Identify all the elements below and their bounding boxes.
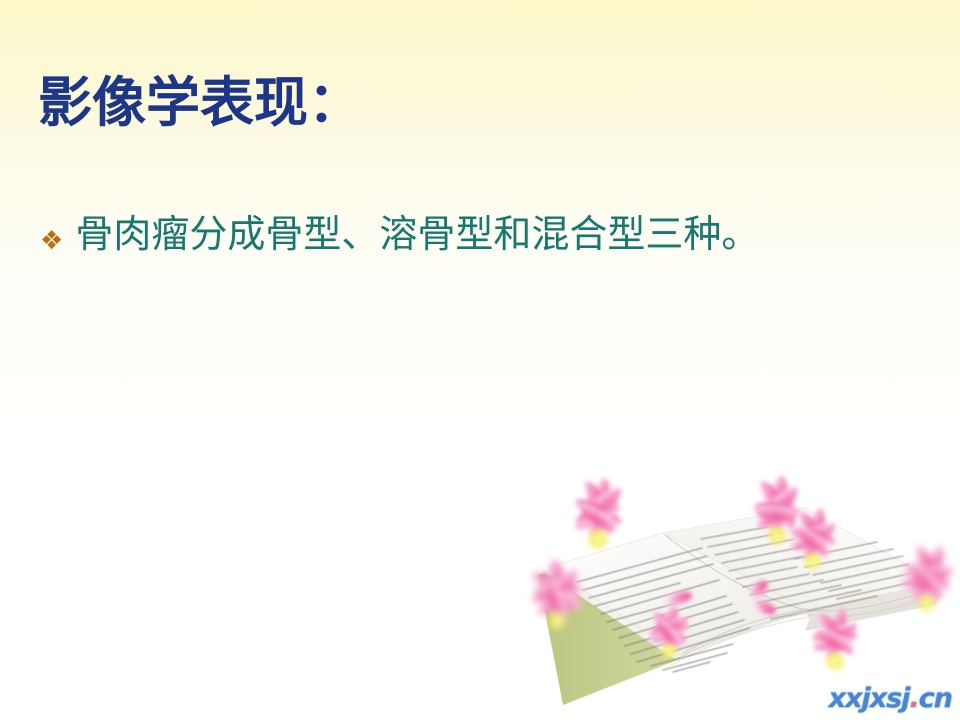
bullet-list: ❖ 骨肉瘤分成骨型、溶骨型和混合型三种。: [40, 212, 920, 260]
presentation-slide: 影像学表现： ❖ 骨肉瘤分成骨型、溶骨型和混合型三种。: [0, 0, 960, 720]
page-title: 影像学表现：: [38, 74, 362, 132]
watermark-tld: cn: [919, 683, 952, 714]
list-item-label: 骨肉瘤分成骨型、溶骨型和混合型三种。: [75, 212, 920, 260]
book-flowers-illustration: [505, 463, 960, 720]
watermark-dot: .: [910, 683, 919, 714]
site-watermark: xxjxsj.cn: [829, 685, 952, 712]
decorative-book-flowers-image: [505, 463, 960, 720]
watermark-name: xxjxsj: [829, 683, 910, 714]
list-item: ❖ 骨肉瘤分成骨型、溶骨型和混合型三种。: [40, 212, 920, 260]
diamond-bullet-icon: ❖: [40, 228, 63, 254]
